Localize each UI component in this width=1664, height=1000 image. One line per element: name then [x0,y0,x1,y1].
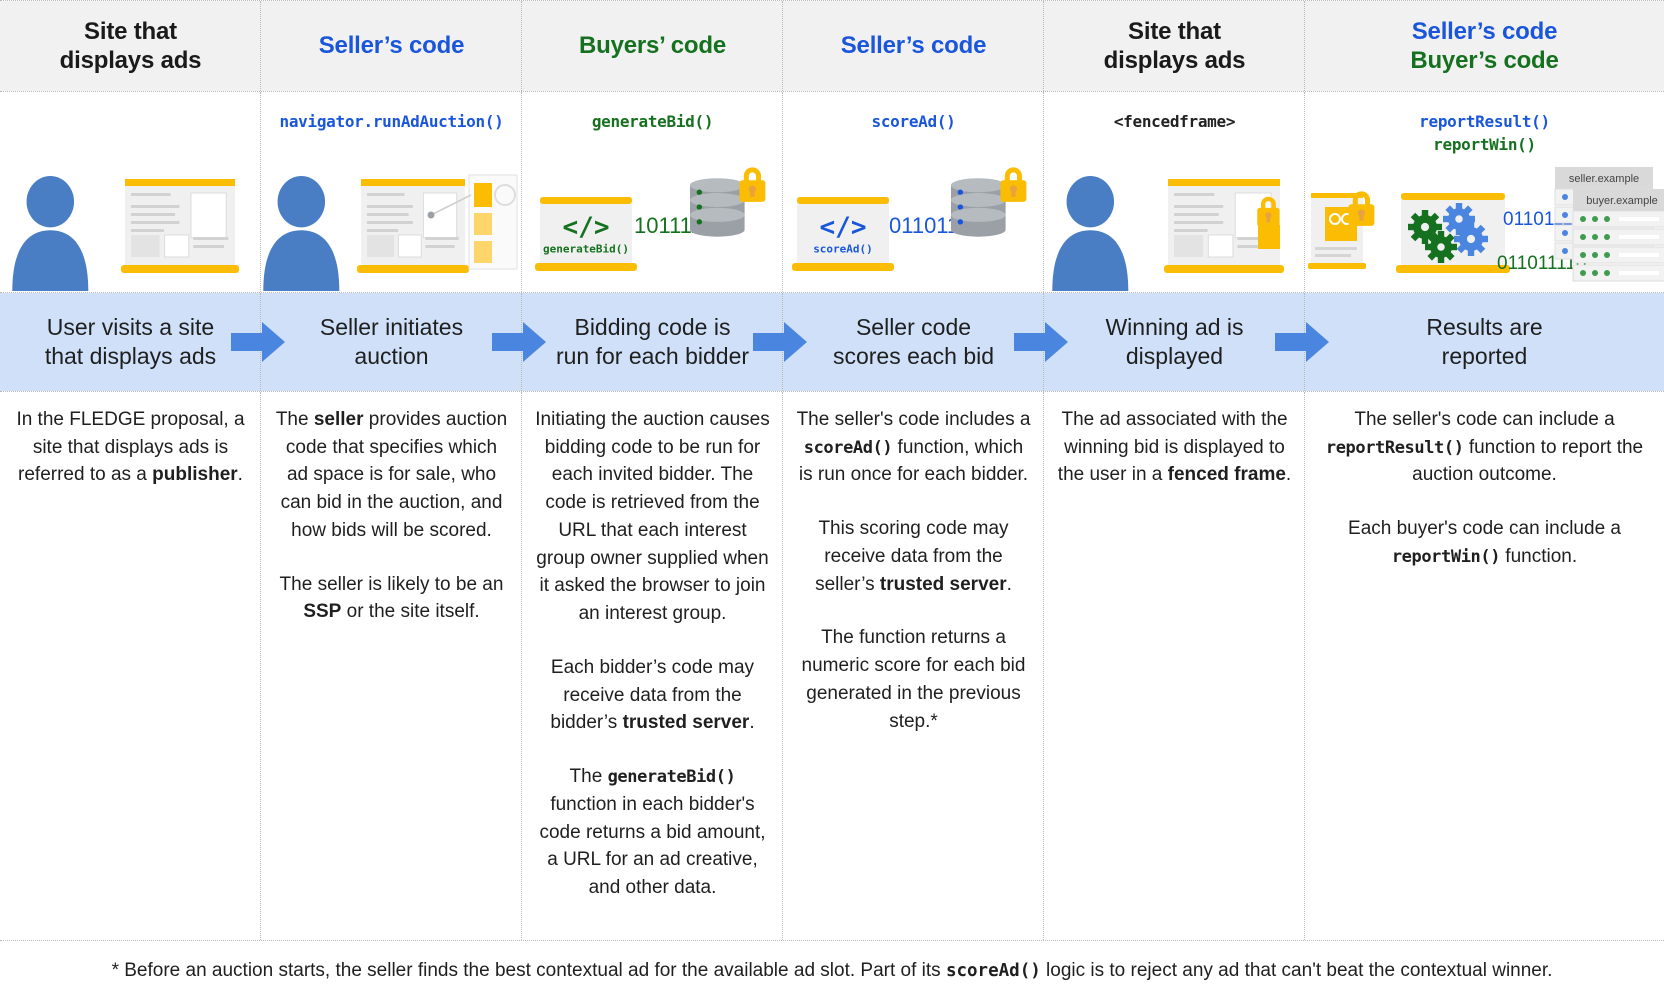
description-paragraph: The seller is likely to be an SSP or the… [273,571,510,626]
footnote-bar: * Before an auction starts, the seller f… [0,940,1664,1000]
header-cell-5: Site thatdisplays ads [1044,1,1305,91]
illustration-user-browser-icon [0,157,261,292]
column-title-2: Seller’s code [319,31,464,60]
description-cell-5: The ad associated with the winning bid i… [1044,392,1305,940]
step-label-line: displayed [1105,342,1243,371]
column-title-line: displays ads [60,46,202,75]
api-cell-2: navigator.runAdAuction() [261,92,522,292]
flow-arrow-right-icon [751,320,809,364]
desc-3-1-run-1: trusted server [623,712,750,733]
api-illustration-row: navigator.runAdAuction()generateBid()</>… [0,92,1664,292]
step-label-6: Results arereported [1412,313,1556,371]
svg-text:buyer.example: buyer.example [1586,195,1658,207]
fledge-flow-diagram: Site thatdisplays adsSeller’s codeBuyers… [0,0,1664,1000]
column-title-line: Site that [60,17,202,46]
desc-4-0-run-1: scoreAd() [804,438,893,458]
desc-1-0-run-1: publisher [152,464,238,485]
column-title-4: Seller’s code [841,31,986,60]
column-title-5: Site thatdisplays ads [1104,17,1246,76]
desc-2-1-run-0: The seller is likely to be an [280,574,504,595]
svg-text:generateBid(): generateBid() [543,242,629,255]
desc-5-0-run-1: fenced frame [1168,464,1286,485]
flow-arrow-right-icon [1273,320,1331,364]
description-paragraph: This scoring code may receive data from … [795,515,1032,598]
column-title-1: Site thatdisplays ads [60,17,202,76]
illustration-fenced-frame-icon [1044,157,1305,292]
desc-2-0-run-0: The [276,409,314,430]
flow-arrow-right-icon [229,320,287,364]
step-label-line: that displays ads [45,342,216,371]
step-label-5: Winning ad isdisplayed [1091,313,1257,371]
api-cell-4: scoreAd()</>scoreAd()0110111 [783,92,1044,292]
desc-3-2-run-0: The [570,766,608,787]
description-paragraph: The ad associated with the winning bid i… [1056,406,1293,489]
desc-3-2-run-1: generateBid() [608,767,736,787]
header-cell-6: Seller’s codeBuyer’s code [1305,1,1664,91]
desc-4-0-run-0: The seller's code includes a [797,409,1031,430]
desc-4-1-run-1: trusted server [880,574,1007,595]
description-paragraph: The function returns a numeric score for… [795,624,1032,735]
description-cell-1: In the FLEDGE proposal, a site that disp… [0,392,261,940]
api-cell-5: <fencedframe> [1044,92,1305,292]
description-text-2: The seller provides auction code that sp… [273,406,510,626]
api-cell-6: reportResult()reportWin()011011101101111… [1305,92,1664,292]
description-paragraph: The generateBid() function in each bidde… [534,763,771,902]
description-cell-3: Initiating the auction causes bidding co… [522,392,783,940]
desc-6-1-run-2: function. [1500,546,1577,567]
step-label-line: scores each bid [833,342,994,371]
description-paragraph: Each bidder’s code may receive data from… [534,654,771,737]
desc-2-0-run-1: seller [314,409,364,430]
column-title-line: Seller’s code [319,31,464,60]
api-name-navigatorrunadauction: navigator.runAdAuction() [261,110,522,133]
description-paragraph: The seller's code includes a scoreAd() f… [795,406,1032,489]
description-text-4: The seller's code includes a scoreAd() f… [795,406,1032,735]
column-title-line: displays ads [1104,46,1246,75]
desc-4-2-run-0: The function returns a numeric score for… [802,627,1026,731]
step-cell-5: Winning ad isdisplayed [1044,293,1305,391]
description-text-5: The ad associated with the winning bid i… [1056,406,1293,489]
description-cell-4: The seller's code includes a scoreAd() f… [783,392,1044,940]
step-label-3: Bidding code isrun for each bidder [542,313,763,371]
step-cell-1: User visits a sitethat displays ads [0,293,261,391]
step-label-line: run for each bidder [556,342,749,371]
api-name-reportwin: reportWin() [1305,133,1664,156]
api-name-scoread: scoreAd() [783,110,1044,133]
description-text-1: In the FLEDGE proposal, a site that disp… [12,406,249,489]
svg-text:</>: </> [563,212,610,242]
step-label-line: Winning ad is [1105,313,1243,342]
step-label-1: User visits a sitethat displays ads [31,313,230,371]
step-label-line: User visits a site [45,313,216,342]
step-cell-6: Results arereported [1305,293,1664,391]
description-text-3: Initiating the auction causes bidding co… [534,406,771,902]
desc-6-0-run-0: The seller's code can include a [1354,409,1614,430]
desc-6-1-run-1: reportWin() [1392,547,1500,567]
illustration-seller-auction-icon [261,157,522,292]
step-band: User visits a sitethat displays adsSelle… [0,293,1664,391]
description-row: In the FLEDGE proposal, a site that disp… [0,392,1664,940]
step-cell-4: Seller codescores each bid [783,293,1044,391]
column-title-line: Seller’s code [1410,17,1558,46]
header-cell-4: Seller’s code [783,1,1044,91]
description-cell-6: The seller's code can include a reportRe… [1305,392,1664,940]
step-label-line: reported [1426,342,1542,371]
svg-text:seller.example: seller.example [1569,173,1639,185]
desc-2-1-run-1: SSP [303,601,341,622]
api-name-fencedframe: <fencedframe> [1044,110,1305,133]
illustration-generate-bid-icon: </>generateBid()1011110 [522,157,783,292]
column-title-line: Buyer’s code [1410,46,1558,75]
desc-3-0-run-0: Initiating the auction causes bidding co… [535,409,770,624]
description-paragraph: The seller provides auction code that sp… [273,406,510,545]
desc-3-2-run-2: function in each bidder's code returns a… [539,794,765,898]
description-paragraph: In the FLEDGE proposal, a site that disp… [12,406,249,489]
api-cell-3: generateBid()</>generateBid()1011110 [522,92,783,292]
description-paragraph: Initiating the auction causes bidding co… [534,406,771,628]
desc-1-0-run-2: . [238,464,243,485]
description-cell-2: The seller provides auction code that sp… [261,392,522,940]
column-title-line: Seller’s code [841,31,986,60]
api-name-generatebid: generateBid() [522,110,783,133]
footnote-text: * Before an auction starts, the seller f… [112,960,1553,982]
illustration-reporting-icon: 0110111011011110seller.examplebuyer.exam… [1305,157,1664,292]
desc-6-0-run-1: reportResult() [1326,438,1464,458]
step-cell-2: Seller initiatesauction [261,293,522,391]
api-name-reportresult: reportResult() [1305,110,1664,133]
step-label-2: Seller initiatesauction [306,313,477,371]
desc-2-1-run-2: or the site itself. [341,601,479,622]
description-text-6: The seller's code can include a reportRe… [1317,406,1652,571]
column-title-6: Seller’s codeBuyer’s code [1410,17,1558,76]
step-label-line: Bidding code is [556,313,749,342]
flow-arrow-right-icon [490,320,548,364]
step-label-line: Results are [1426,313,1542,342]
column-title-line: Site that [1104,17,1246,46]
step-label-4: Seller codescores each bid [819,313,1008,371]
step-cell-3: Bidding code isrun for each bidder [522,293,783,391]
desc-5-0-run-2: . [1286,464,1291,485]
illustration-score-ad-icon: </>scoreAd()0110111 [783,157,1044,292]
header-cell-3: Buyers’ code [522,1,783,91]
step-label-line: Seller initiates [320,313,463,342]
svg-text:</>: </> [820,212,867,242]
step-label-line: auction [320,342,463,371]
footnote-run-2: logic is to reject any ad that can't bea… [1041,960,1553,981]
desc-3-1-run-2: . [749,712,754,733]
header-cell-1: Site thatdisplays ads [0,1,261,91]
header-row: Site thatdisplays adsSeller’s codeBuyers… [0,1,1664,91]
column-title-line: Buyers’ code [579,31,726,60]
api-cell-1 [0,92,261,292]
footnote-run-1: scoreAd() [946,961,1041,981]
description-paragraph: Each buyer's code can include a reportWi… [1317,515,1652,570]
svg-text:scoreAd(): scoreAd() [813,242,873,255]
footnote-run-0: * Before an auction starts, the seller f… [112,960,946,981]
desc-6-1-run-0: Each buyer's code can include a [1348,518,1621,539]
description-paragraph: The seller's code can include a reportRe… [1317,406,1652,489]
header-cell-2: Seller’s code [261,1,522,91]
flow-arrow-right-icon [1012,320,1070,364]
column-title-3: Buyers’ code [579,31,726,60]
step-label-line: Seller code [833,313,994,342]
desc-4-1-run-2: . [1007,574,1012,595]
